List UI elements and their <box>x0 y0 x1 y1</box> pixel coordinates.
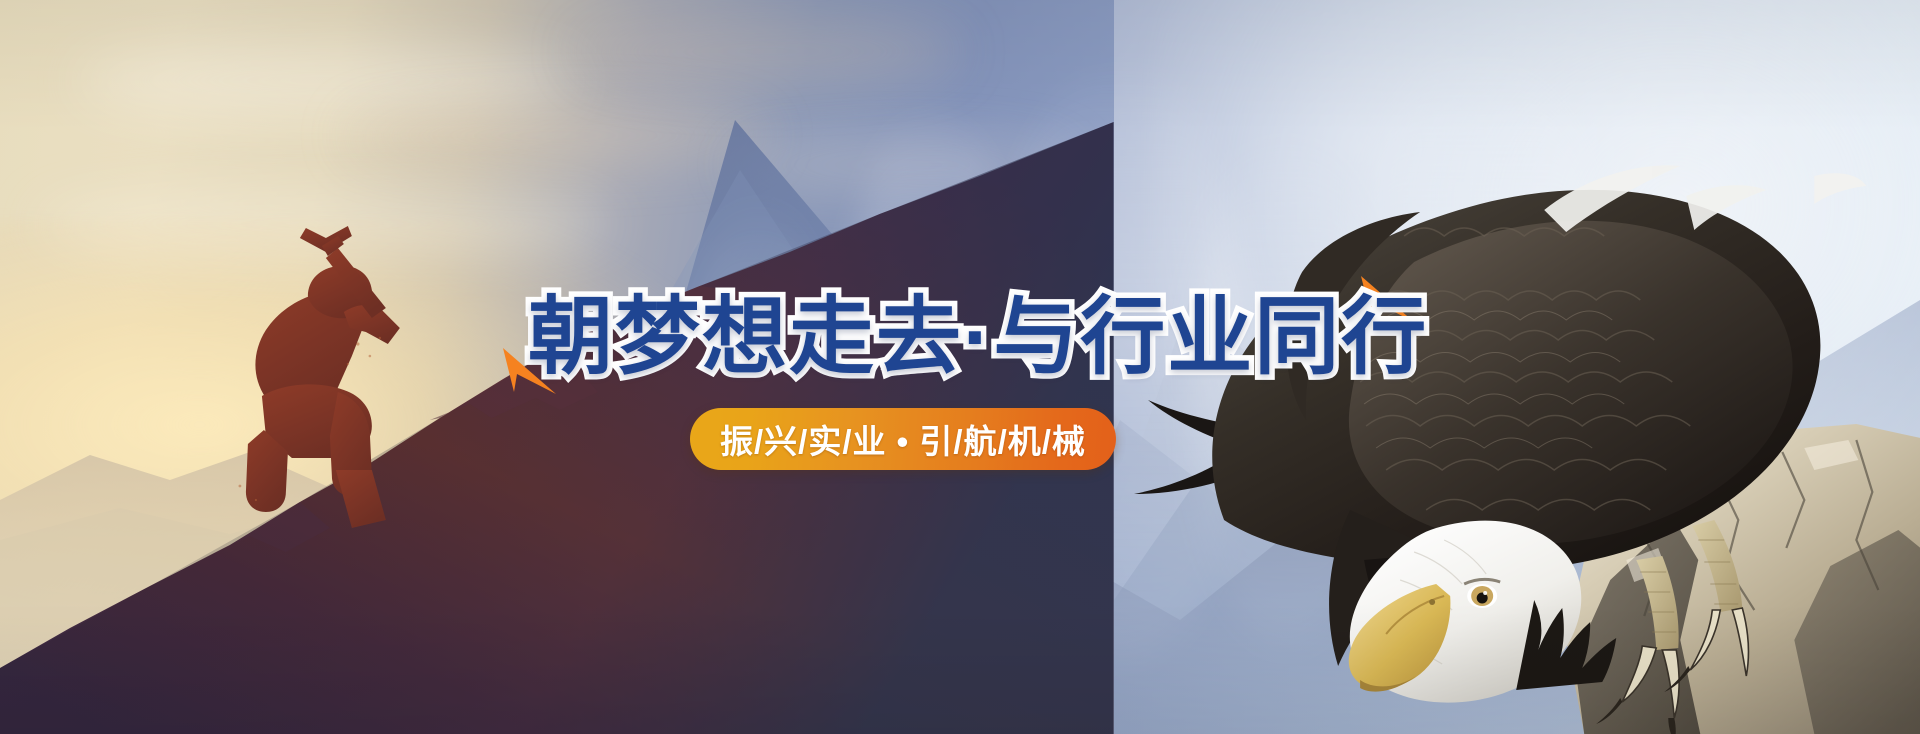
subtitle-text: 振/兴/实/业 • 引/航/机/械 <box>720 415 1086 463</box>
page-title: 朝梦想走去·与行业同行 <box>528 292 1428 384</box>
status-badge: 振/兴/实/业 • 引/航/机/械 <box>690 408 1116 470</box>
hero-copy-block: 朝梦想走去·与行业同行 振/兴/实/业 • 引/航/机/械 <box>500 278 1420 478</box>
hero-banner: 朝梦想走去·与行业同行 振/兴/实/业 • 引/航/机/械 <box>0 0 1920 734</box>
